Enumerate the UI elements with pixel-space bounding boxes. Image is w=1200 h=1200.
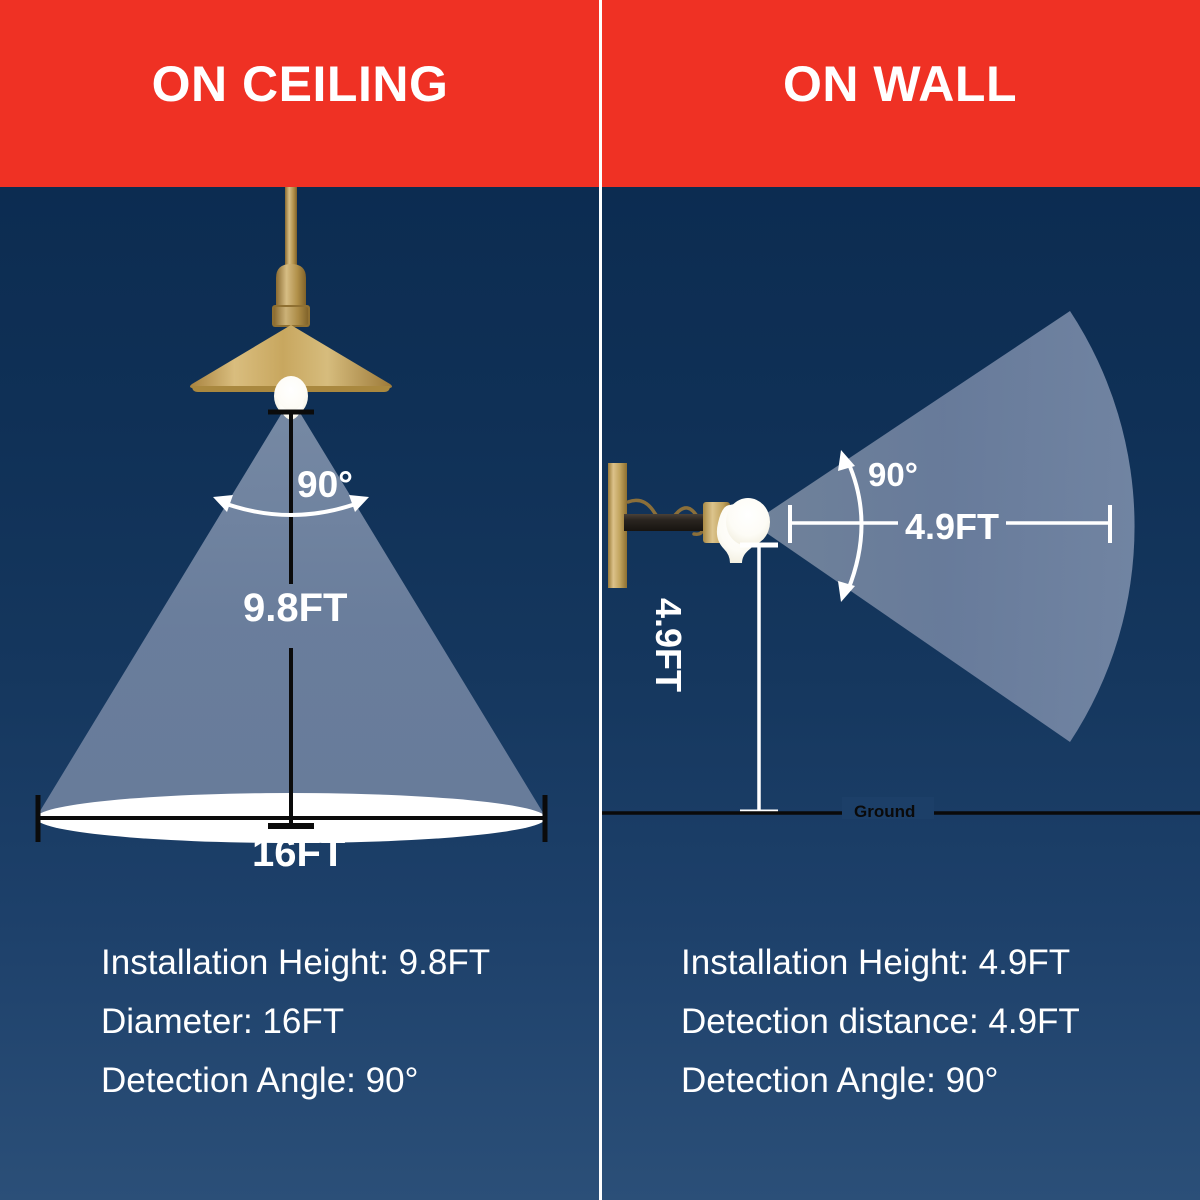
panel-divider-top <box>599 0 602 187</box>
diagram-canvas: ON CEILING ON WALL <box>0 0 1200 1200</box>
spec-item: Installation Height: 4.9FT <box>681 940 1080 987</box>
spec-item: Detection distance: 4.9FT <box>681 999 1080 1046</box>
pendant-lamp-icon <box>190 187 392 420</box>
height-label-wall: 4.9FT <box>650 598 686 692</box>
spec-item: Detection Angle: 90° <box>681 1058 1080 1105</box>
wall-sconce-icon <box>608 463 770 588</box>
spec-item: Detection Angle: 90° <box>101 1058 490 1105</box>
angle-label-wall: 90° <box>868 458 918 491</box>
spec-item: Diameter: 16FT <box>101 999 490 1046</box>
angle-label-ceiling: 90° <box>297 466 353 503</box>
height-label-ceiling: 9.8FT <box>243 588 347 628</box>
diameter-label-ceiling: 16FT <box>252 833 345 873</box>
spec-item: Installation Height: 9.8FT <box>101 940 490 987</box>
spec-list-wall: Installation Height: 4.9FT Detection dis… <box>681 940 1080 1117</box>
distance-label-wall: 4.9FT <box>905 509 999 545</box>
spec-list-ceiling: Installation Height: 9.8FT Diameter: 16F… <box>101 940 490 1117</box>
height-dimension-line-wall <box>740 543 778 812</box>
ground-label: Ground <box>847 803 922 820</box>
